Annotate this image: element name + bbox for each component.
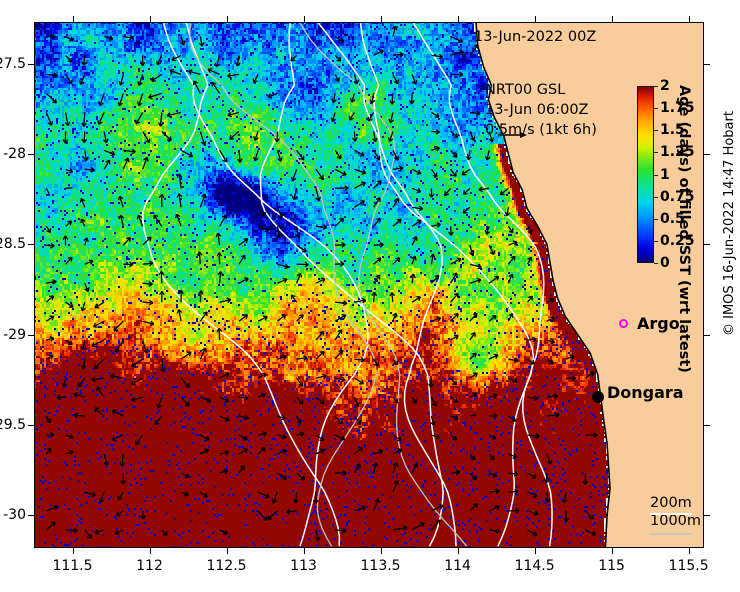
current-vector: [219, 328, 220, 340]
x-axis-tick-label: 114.5: [515, 558, 555, 574]
y-axis-tick: [28, 425, 34, 426]
bathymetry-legend: 200m 1000m: [650, 494, 701, 530]
y-axis-tick-label: -29.5: [0, 417, 26, 433]
colorbar-tick-label: 2: [660, 78, 670, 94]
current-vector: [46, 93, 56, 103]
argo-legend-label: Argo: [637, 314, 680, 333]
colorbar-tick-label: 0.75: [660, 189, 695, 205]
colorbar-tick: [654, 197, 658, 198]
x-axis-tick-top: [150, 16, 151, 22]
x-axis-tick: [227, 548, 228, 554]
dongara-marker-icon: [592, 391, 604, 403]
x-axis-tick-label: 113: [290, 558, 317, 574]
map-overlay-vectors-contours: [34, 22, 704, 548]
colorbar-tick-label: 0.5: [660, 211, 685, 227]
bathy-contour-grey: [300, 22, 467, 546]
copyright-notice: © IMOS 16-Jun-2022 14:47 Hobart: [722, 106, 737, 336]
y-axis-tick: [28, 244, 34, 245]
colorbar-tick-label: 1.5: [660, 122, 685, 138]
x-axis-tick-label: 115: [598, 558, 625, 574]
x-axis-tick: [612, 548, 613, 554]
colorbar-tick: [654, 175, 658, 176]
colorbar-tick: [654, 108, 658, 109]
x-axis-tick-label: 112: [136, 558, 163, 574]
current-vector: [95, 359, 105, 368]
figure-canvas: 13-Jun-2022 00Z NRT00 GSL 13-Jun 06:00Z …: [0, 0, 740, 592]
x-axis-tick: [73, 548, 74, 554]
colorbar-tick-label: 1: [660, 167, 670, 183]
current-vector: [66, 188, 73, 189]
y-axis-tick-label: -28: [3, 146, 26, 162]
x-axis-tick: [535, 548, 536, 554]
product-name: NRT00 GSL: [485, 80, 597, 100]
x-axis-tick-label: 114: [444, 558, 471, 574]
bathy-contour-1000m: [143, 22, 340, 546]
current-vector: [470, 45, 478, 56]
y-axis-tick-label: -28.5: [0, 236, 26, 252]
y-axis-tick-label: -30: [3, 507, 26, 523]
colorbar-tick-label: 1.25: [660, 144, 695, 160]
x-axis-tick-label: 111.5: [52, 558, 92, 574]
bathy-contour-grey: [190, 22, 376, 546]
x-axis-tick-top: [689, 16, 690, 22]
y-axis-tick-right: [704, 64, 710, 65]
x-axis-tick: [689, 548, 690, 554]
y-axis-tick-right: [704, 154, 710, 155]
colorbar-tick: [654, 241, 658, 242]
current-vector: [46, 188, 49, 193]
y-axis-tick: [28, 64, 34, 65]
colorbar-tick-label: 0.25: [660, 233, 695, 249]
current-vector: [219, 253, 220, 265]
map-plot-area: [34, 22, 704, 548]
current-vector: [268, 511, 278, 520]
colorbar-tick: [654, 130, 658, 131]
current-vector: [470, 415, 476, 416]
datetime-title: 13-Jun-2022 00Z: [474, 29, 596, 45]
current-vector: [181, 378, 189, 387]
x-axis-tick: [150, 548, 151, 554]
x-axis-tick: [304, 548, 305, 554]
bathy-line-sample-200m: [650, 513, 692, 515]
y-axis-tick: [28, 335, 34, 336]
y-axis-tick: [28, 515, 34, 516]
current-vector: [162, 131, 171, 140]
x-axis-tick-top: [535, 16, 536, 22]
x-axis-tick-label: 113.5: [361, 558, 401, 574]
x-axis-tick-top: [304, 16, 305, 22]
y-axis-tick-right: [704, 335, 710, 336]
x-axis-tick-top: [381, 16, 382, 22]
x-axis-tick-top: [458, 16, 459, 22]
current-vector: [116, 340, 124, 352]
bathy-contour-1000m: [163, 22, 368, 546]
y-axis-tick-label: -27.5: [0, 56, 26, 72]
y-axis-tick: [28, 154, 34, 155]
x-axis-tick-label: 112.5: [206, 558, 246, 574]
colorbar-tick: [654, 263, 658, 264]
bathy-label-200m: 200m: [650, 494, 701, 512]
current-vector: [258, 511, 267, 521]
colorbar-tick-label: 0: [660, 255, 670, 271]
y-axis-tick-right: [704, 425, 710, 426]
x-axis-tick-top: [73, 16, 74, 22]
bathy-contour-1000m: [317, 22, 456, 546]
argo-marker-icon: [619, 319, 628, 328]
x-axis-tick-top: [612, 16, 613, 22]
dongara-place-label: Dongara: [607, 383, 684, 402]
colorbar-tick: [654, 86, 658, 87]
x-axis-tick: [381, 548, 382, 554]
y-axis-tick-right: [704, 244, 710, 245]
y-axis-tick-label: -29: [3, 327, 26, 343]
x-axis-tick-label: 115.5: [669, 558, 709, 574]
product-valid-time: 13-Jun 06:00Z: [485, 100, 597, 120]
y-axis-tick-right: [704, 515, 710, 516]
x-axis-tick: [458, 548, 459, 554]
x-axis-tick-top: [227, 16, 228, 22]
current-vector: [114, 321, 123, 331]
colorbar-tick-label: 1.75: [660, 100, 695, 116]
colorbar-tick: [654, 219, 658, 220]
colorbar-tick: [654, 152, 658, 153]
current-vector: [95, 408, 104, 416]
colorbar-gradient: [637, 86, 654, 263]
vector-scale-arrow-icon: [497, 129, 527, 141]
bathy-line-sample-1000m: [650, 533, 692, 535]
